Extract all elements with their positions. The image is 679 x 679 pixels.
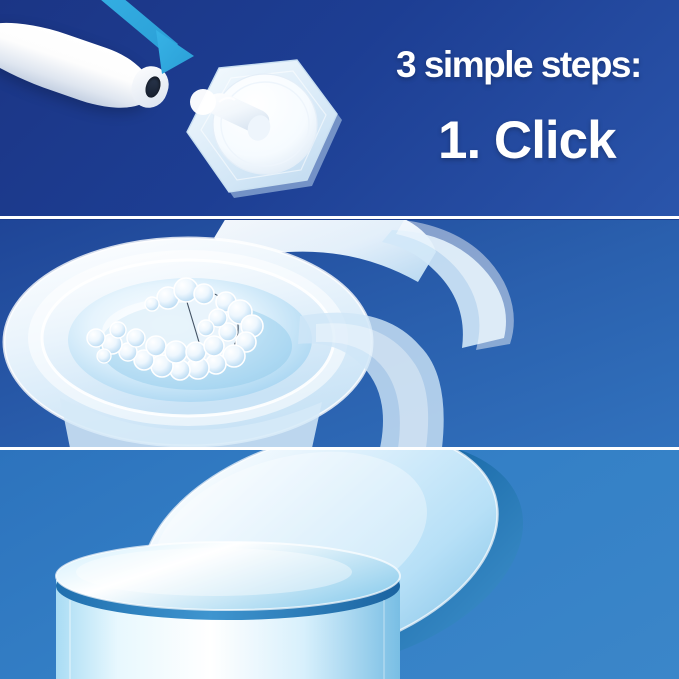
- step-2-panel: 2. Swish: [0, 220, 679, 448]
- trash-bin-icon: [0, 450, 679, 679]
- three-simple-steps-poster: 3 simple steps: 1. Click: [0, 0, 679, 679]
- step-1-label: 1. Click: [438, 110, 616, 171]
- toilet-bowl-icon: [0, 220, 679, 448]
- step-3-panel: 3. Toss: [0, 450, 679, 679]
- panel-divider: [0, 216, 679, 219]
- step-1-panel: 3 simple steps: 1. Click: [0, 0, 679, 218]
- page-title: 3 simple steps:: [396, 44, 641, 86]
- panel-divider: [0, 447, 679, 450]
- hexagonal-pod-icon: [175, 52, 350, 212]
